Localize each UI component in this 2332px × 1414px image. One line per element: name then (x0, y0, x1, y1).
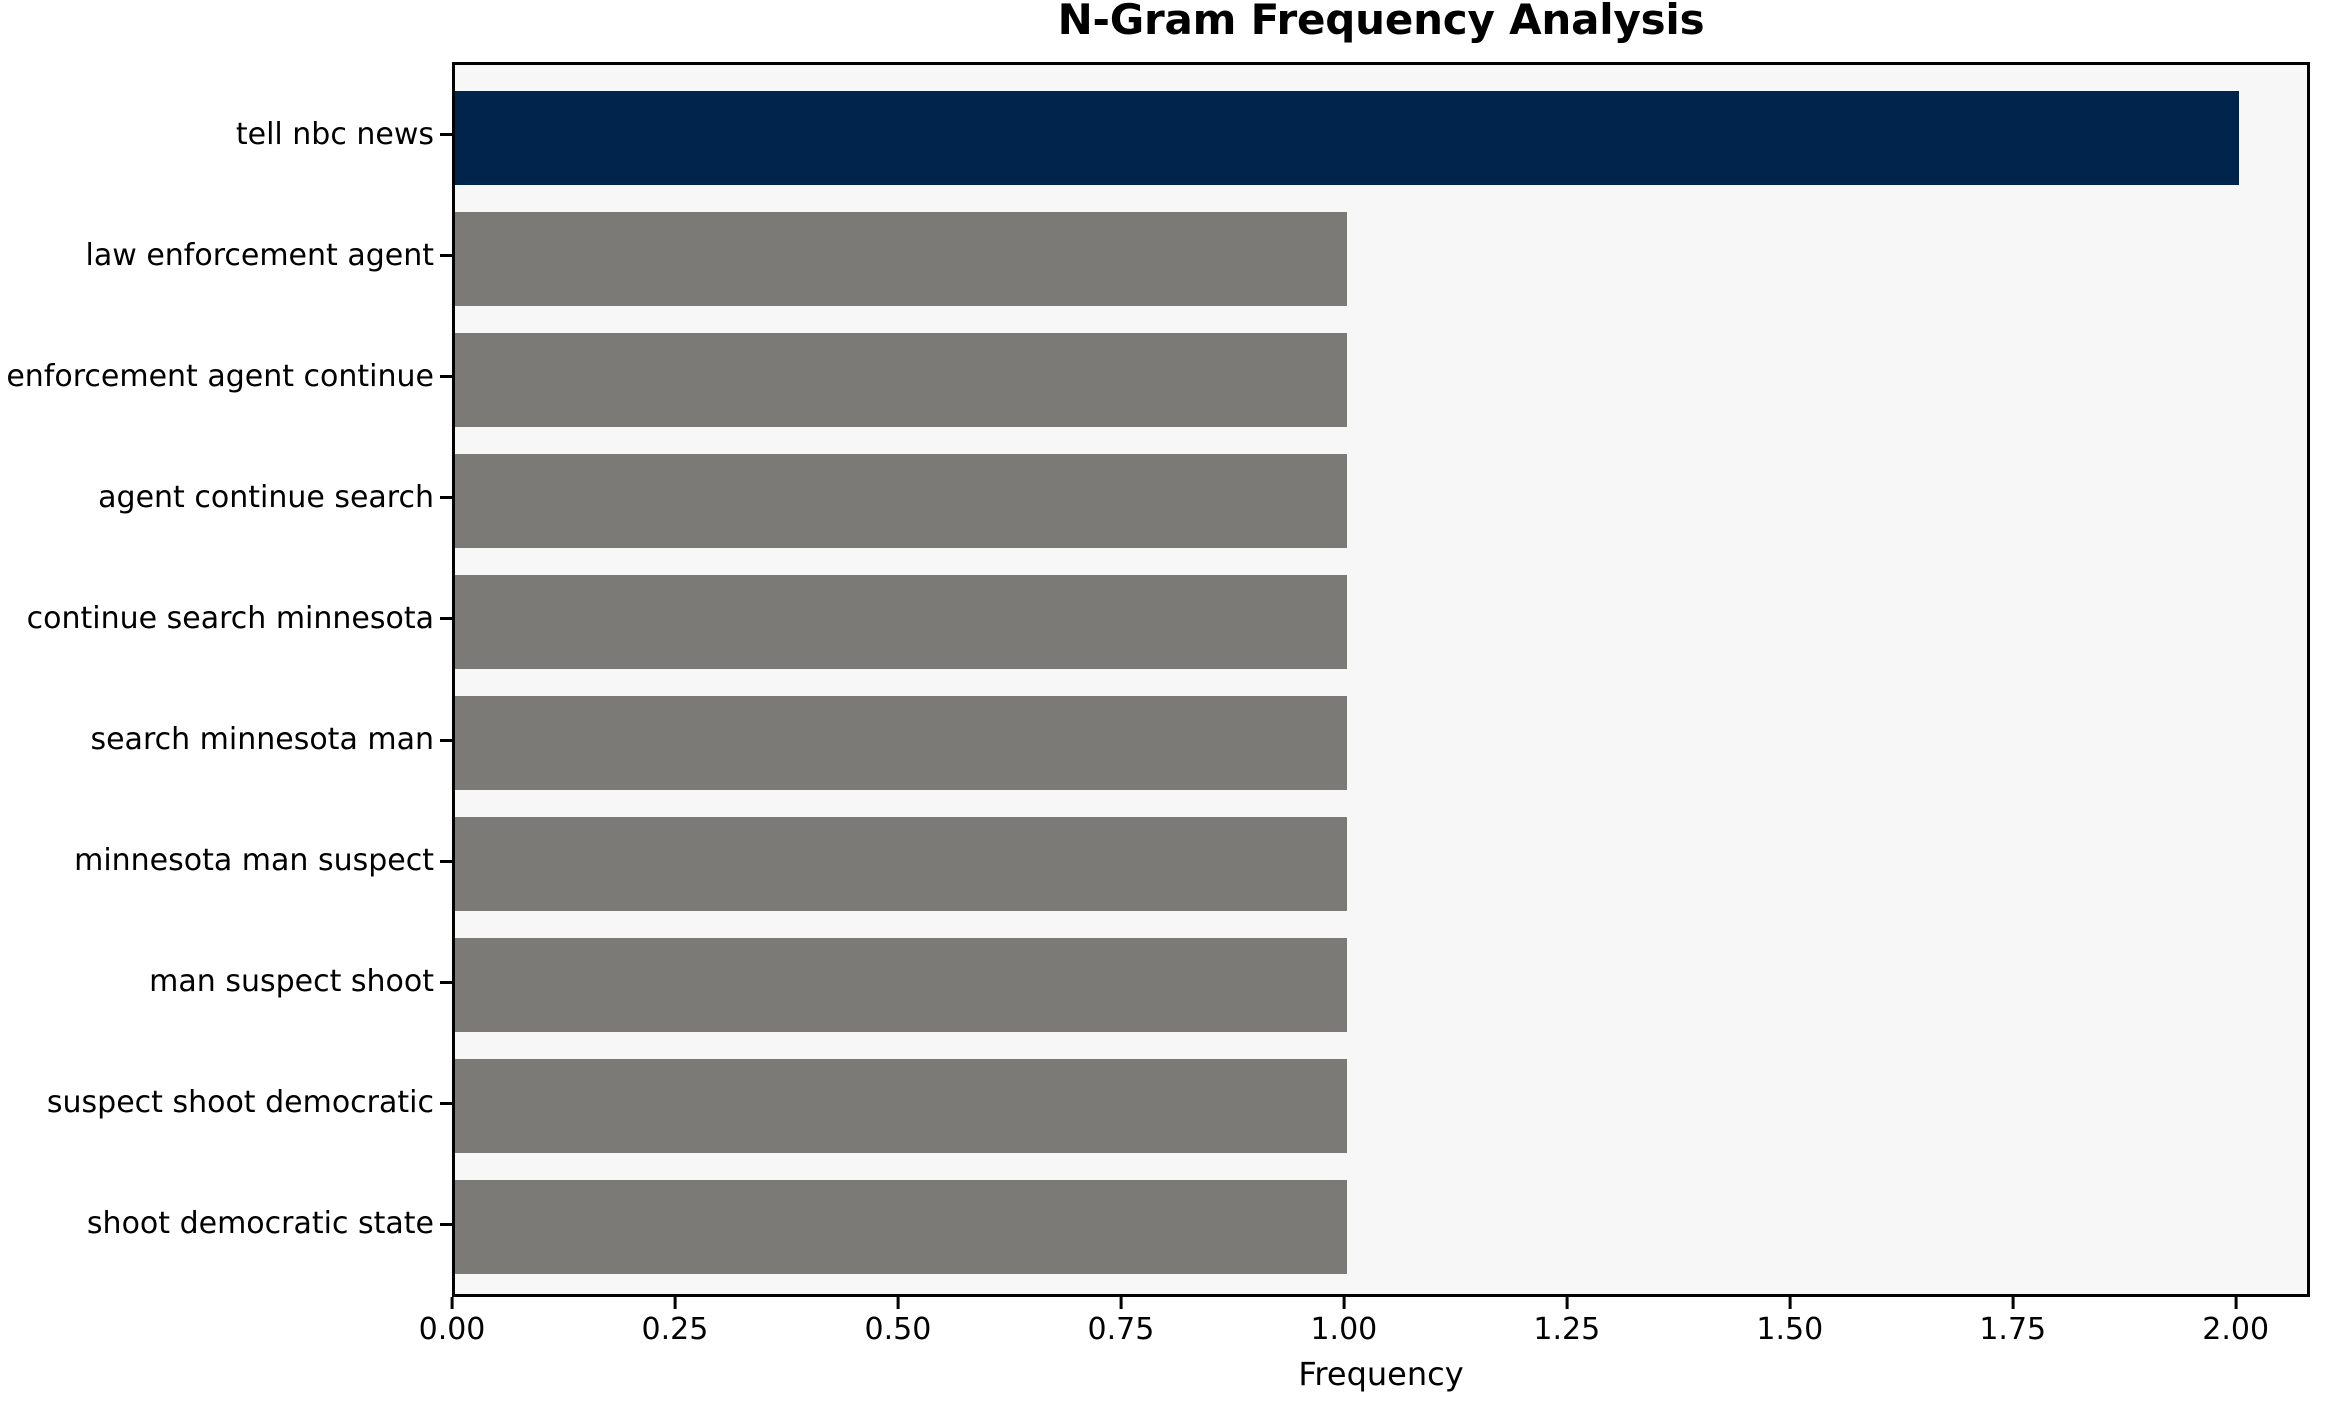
bar (455, 1180, 1347, 1274)
y-tick-label: suspect shoot democratic (47, 1088, 440, 1118)
y-tick-label: agent continue search (98, 483, 440, 513)
bar (455, 696, 1347, 790)
y-tick-mark (440, 739, 452, 742)
x-tick: 1.25 (1533, 1297, 1600, 1345)
y-tick-label: continue search minnesota (27, 604, 440, 634)
y-tick-label: man suspect shoot (149, 967, 440, 997)
x-tick-label: 0.00 (419, 1315, 486, 1345)
bar (455, 575, 1347, 669)
x-tick-mark (2011, 1297, 2014, 1309)
x-tick-mark (450, 1297, 453, 1309)
x-tick-label: 1.75 (1979, 1315, 2046, 1345)
x-tick: 0.75 (1087, 1297, 1154, 1345)
y-tick-mark (440, 1223, 452, 1226)
y-tick-mark (440, 375, 452, 378)
y-tick-label: tell nbc news (236, 120, 440, 150)
y-tick-label: minnesota man suspect (74, 846, 440, 876)
y-tick-label: search minnesota man (90, 725, 440, 755)
bar (455, 333, 1347, 427)
x-tick: 1.50 (1756, 1297, 1823, 1345)
x-axis: 0.000.250.500.751.001.251.501.752.00 (452, 1297, 2310, 1357)
x-tick-mark (896, 1297, 899, 1309)
x-tick-label: 0.75 (1087, 1315, 1154, 1345)
x-tick: 0.00 (419, 1297, 486, 1345)
y-tick-mark (440, 496, 452, 499)
x-tick-label: 0.25 (642, 1315, 709, 1345)
x-tick-mark (1342, 1297, 1345, 1309)
y-tick-label: law enforcement agent (86, 241, 440, 271)
x-tick-mark (1119, 1297, 1122, 1309)
y-tick-mark (440, 860, 452, 863)
bar (455, 454, 1347, 548)
y-tick-label: enforcement agent continue (6, 362, 440, 392)
x-tick-label: 0.50 (865, 1315, 932, 1345)
x-tick-mark (1565, 1297, 1568, 1309)
y-tick-mark (440, 254, 452, 257)
x-tick-label: 2.00 (2202, 1315, 2269, 1345)
x-tick: 1.00 (1310, 1297, 1377, 1345)
bar (455, 212, 1347, 306)
bar (455, 938, 1347, 1032)
x-tick-mark (1788, 1297, 1791, 1309)
x-tick: 0.25 (642, 1297, 709, 1345)
x-tick-label: 1.00 (1310, 1315, 1377, 1345)
x-tick-mark (673, 1297, 676, 1309)
x-tick-label: 1.25 (1533, 1315, 1600, 1345)
x-tick: 2.00 (2202, 1297, 2269, 1345)
x-tick: 0.50 (865, 1297, 932, 1345)
x-axis-title: Frequency (452, 1358, 2310, 1390)
chart-title: N-Gram Frequency Analysis (452, 0, 2310, 48)
x-tick: 1.75 (1979, 1297, 2046, 1345)
y-axis: tell nbc newslaw enforcement agentenforc… (0, 62, 452, 1297)
y-tick-label: shoot democratic state (87, 1209, 440, 1239)
bar (455, 1059, 1347, 1153)
x-tick-label: 1.50 (1756, 1315, 1823, 1345)
chart-figure: N-Gram Frequency Analysis tell nbc newsl… (0, 0, 2332, 1414)
bar (455, 817, 1347, 911)
y-tick-mark (440, 617, 452, 620)
x-tick-mark (2234, 1297, 2237, 1309)
y-tick-mark (440, 133, 452, 136)
bar (455, 91, 2239, 185)
y-tick-mark (440, 1102, 452, 1105)
plot-area (452, 62, 2310, 1297)
bars-layer (455, 65, 2307, 1294)
y-tick-mark (440, 981, 452, 984)
